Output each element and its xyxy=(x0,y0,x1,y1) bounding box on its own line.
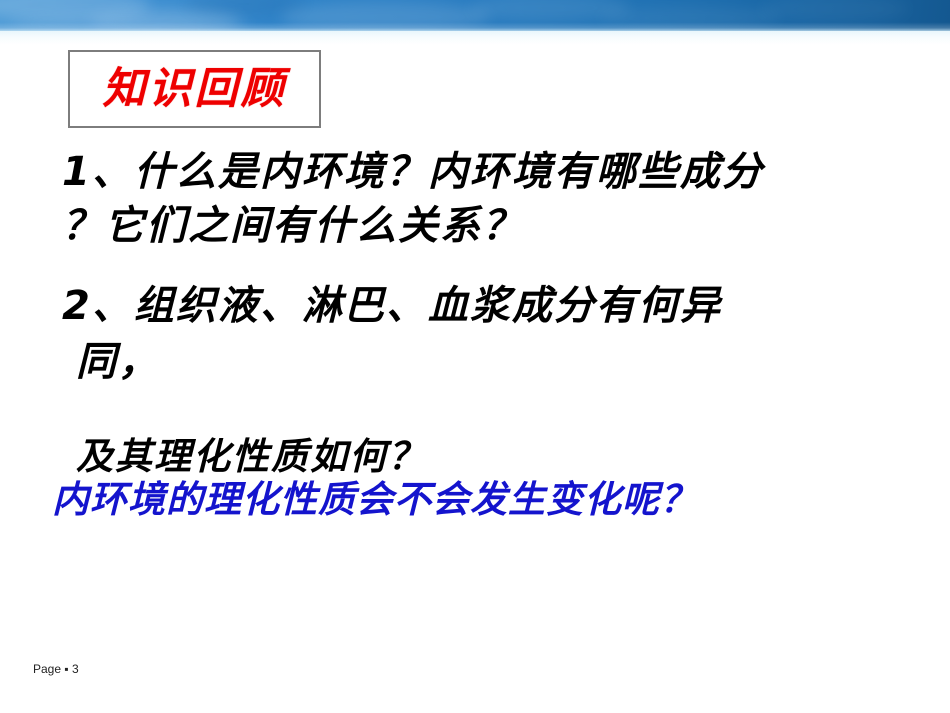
slide-title-box: 知识回顾 xyxy=(68,50,321,128)
cloud-wisp-icon xyxy=(600,6,780,30)
slide-body: 1、什么是内环境？内环境有哪些成分 ？它们之间有什么关系？ 2、组织液、淋巴、血… xyxy=(62,152,942,518)
question-1-line-2: ？它们之间有什么关系？ xyxy=(62,206,942,246)
presentation-slide: 知识回顾 1、什么是内环境？内环境有哪些成分 ？它们之间有什么关系？ 2、组织液… xyxy=(0,0,950,713)
question-2-line-2: 同， xyxy=(62,342,942,382)
sky-banner xyxy=(0,0,950,31)
highlight-question-line: 内环境的理化性质会不会发生变化呢？ xyxy=(52,481,942,518)
cloud-wisp-icon xyxy=(280,2,490,31)
cloud-wisp-icon xyxy=(760,0,910,22)
cloud-wisp-icon xyxy=(0,0,150,22)
question-2-line-3: 及其理化性质如何？ xyxy=(62,438,942,475)
banner-fade-strip xyxy=(0,31,950,45)
cloud-wisp-icon xyxy=(185,0,305,16)
cloud-wisp-icon xyxy=(10,14,250,31)
page-title: 知识回顾 xyxy=(70,52,319,126)
question-2-line-1: 2、组织液、淋巴、血浆成分有何异 xyxy=(62,286,942,326)
cloud-wisp-icon xyxy=(90,8,240,31)
cloud-wisp-icon xyxy=(470,0,630,22)
page-number-footer: Page ▪ 3 xyxy=(33,662,79,676)
question-1-line-1: 1、什么是内环境？内环境有哪些成分 xyxy=(62,152,942,192)
